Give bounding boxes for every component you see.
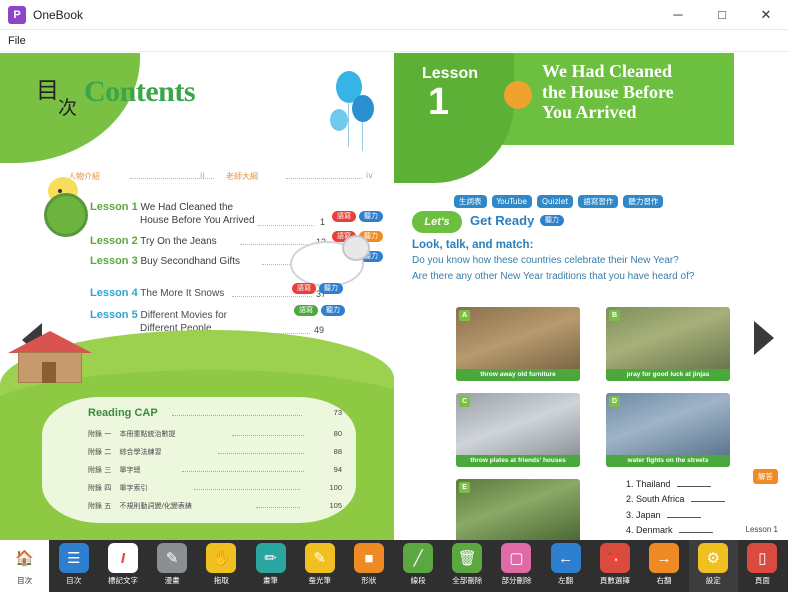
appendix-text-4: 單字索引 xyxy=(119,484,147,492)
toolbar-label-hand: 拖取 xyxy=(214,575,229,586)
photo-a[interactable]: A throw away old furniture xyxy=(456,307,580,381)
lesson-tags-1: 語寫 聽力 xyxy=(332,211,383,222)
toolbar-label-partial-delete: 部分刪除 xyxy=(501,575,531,586)
question-1: Do you know how these countries celebrat… xyxy=(412,255,679,266)
balloon-icon xyxy=(352,95,374,122)
answer-blank-2[interactable] xyxy=(691,501,725,502)
book-page-area: 目 次 Contents 人物介紹 ii 老師大綱 iv Lesson 1 We… xyxy=(0,53,788,540)
lesson-row-2[interactable]: Lesson 2 Try On the Jeans xyxy=(90,235,217,247)
house-icon xyxy=(8,331,92,383)
toolbar-item-line[interactable]: ╱ 線段 xyxy=(394,540,443,592)
appendix-text-2: 綜合學法練習 xyxy=(119,448,161,456)
appendix-row-2[interactable]: 附錄 二 綜合學法練習 xyxy=(88,447,161,457)
lesson-tags-4: 語寫 聽力 xyxy=(292,283,343,294)
lesson-number-3: Lesson 3 xyxy=(90,255,138,267)
appendix-row-1[interactable]: 附錄 一 本冊重點統治數提 xyxy=(88,429,175,439)
appendix-label-4: 附錄 四 xyxy=(88,484,111,492)
photo-badge-e: E xyxy=(459,482,470,493)
toolbar-label-page-right: 右翻 xyxy=(657,575,672,586)
contents-title: Contents xyxy=(84,75,195,109)
shape-icon: ■ xyxy=(354,543,384,573)
country-row-4[interactable]: 4. Denmark xyxy=(626,523,725,538)
appendix-row-3[interactable]: 附錄 三 單字總 xyxy=(88,465,140,475)
appendix-label-3: 附錄 三 xyxy=(88,466,111,474)
toolbar-label-contents: 目次 xyxy=(66,575,81,586)
balloon-icon xyxy=(330,109,348,131)
unit-title-line2: the House Before xyxy=(542,82,780,103)
photo-c[interactable]: C throw plates at friends' houses xyxy=(456,393,580,467)
lesson-number-1: Lesson 1 xyxy=(90,201,138,213)
country-number-2: 2. xyxy=(626,494,634,504)
front-matter-row: 人物介紹 ii 老師大綱 iv xyxy=(24,171,372,185)
toolbar-item-delete-all[interactable]: 🗑 全部刪除 xyxy=(443,540,492,592)
photo-caption-a: throw away old furniture xyxy=(456,369,580,381)
appendix-page-2: 88 xyxy=(334,447,342,456)
title-bar: P OneBook ─ □ ✕ xyxy=(0,0,788,30)
reading-cap-title: Reading CAP xyxy=(88,407,158,419)
pen-icon: ✏ xyxy=(256,543,286,573)
appendix-row-5[interactable]: 附錄 五 不規則動詞變/化變表錶 xyxy=(88,501,192,511)
toolbar-item-contents[interactable]: ☰ 目次 xyxy=(49,540,98,592)
menu-bar: File xyxy=(0,30,788,52)
toolbar-item-partial-delete[interactable]: ▢ 部分刪除 xyxy=(492,540,541,592)
balloon-string xyxy=(362,121,363,151)
country-match-list: 1. Thailand 2. South Africa 3. Japan 4. … xyxy=(626,477,725,540)
dots xyxy=(256,507,300,508)
lesson-row-3[interactable]: Lesson 3 Buy Secondhand Gifts xyxy=(90,255,240,267)
dots xyxy=(218,453,304,454)
chip-quizlet[interactable]: Quizlet xyxy=(537,195,573,208)
lesson-title-2: Try On the Jeans xyxy=(140,236,216,247)
dots xyxy=(182,471,304,472)
country-name-3: Japan xyxy=(636,510,661,520)
question-2: Are there any other New Year traditions … xyxy=(412,271,694,282)
toolbar-label-highlighter: 蚕光筆 xyxy=(308,575,331,586)
close-button[interactable]: ✕ xyxy=(744,0,788,30)
toolbar-label-pen: 畫筆 xyxy=(263,575,278,586)
toolbar-label-comic: 漫畫 xyxy=(165,575,180,586)
toolbar-item-page[interactable]: ▯ 頁面 xyxy=(738,540,787,592)
photo-caption-d: water fights on the streets xyxy=(606,455,730,467)
appendix-label-2: 附錄 二 xyxy=(88,448,111,456)
lesson-page-1: 1 xyxy=(320,217,325,227)
lesson-title-5: Different Movies for xyxy=(140,310,227,321)
appendix-row-4[interactable]: 附錄 四 單字索引 xyxy=(88,483,147,493)
lets-badge: Let's xyxy=(412,211,462,233)
dots xyxy=(232,296,312,297)
balloon-string xyxy=(348,101,349,147)
lesson-tags-5: 語寫 聽力 xyxy=(294,305,345,316)
lesson-row-4[interactable]: Lesson 4 The More It Snows xyxy=(90,287,224,299)
country-number-1: 1. xyxy=(626,479,634,489)
minimize-button[interactable]: ─ xyxy=(656,0,700,30)
lesson-number-4: Lesson 4 xyxy=(90,287,138,299)
hand-icon: ✋ xyxy=(206,543,236,573)
tag-writing[interactable]: 語寫 xyxy=(294,305,318,316)
photo-badge-a: A xyxy=(459,310,470,321)
photo-caption-c: throw plates at friends' houses xyxy=(456,455,580,467)
appendix-page-4: 100 xyxy=(329,483,342,492)
front-matter-page-1: iv xyxy=(366,171,373,180)
yarn-ball-icon xyxy=(44,193,88,237)
toolbar-item-shape[interactable]: ■ 形狀 xyxy=(344,540,393,592)
photo-caption-b: pray for good luck at jinjas xyxy=(606,369,730,381)
lesson-title-1-line2: House Before You Arrived xyxy=(140,215,255,226)
tag-writing[interactable]: 語寫 xyxy=(292,283,316,294)
appendix-text-1: 本冊重點統治數提 xyxy=(119,430,175,438)
country-name-2: South Africa xyxy=(636,494,685,504)
toolbar-item-pen[interactable]: ✏ 畫筆 xyxy=(246,540,295,592)
toolbar-item-page-left[interactable]: ← 左翻 xyxy=(541,540,590,592)
photo-badge-b: B xyxy=(609,310,620,321)
contents-cjk-top: 目 xyxy=(36,71,59,105)
appendix-text-5: 不規則動詞變/化變表錶 xyxy=(119,502,191,510)
app-icon: P xyxy=(8,6,26,24)
gear-icon: ⚙ xyxy=(698,543,728,573)
photo-b[interactable]: B pray for good luck at jinjas xyxy=(606,307,730,381)
country-row-2[interactable]: 2. South Africa xyxy=(626,492,725,507)
page-icon: ▯ xyxy=(747,543,777,573)
appendix-text-3: 單字總 xyxy=(119,466,140,474)
contents-icon: ☰ xyxy=(59,543,89,573)
contents-cjk-bottom: 次 xyxy=(58,93,77,120)
appendix-page-3: 94 xyxy=(334,465,342,474)
left-page: 目 次 Contents 人物介紹 ii 老師大綱 iv Lesson 1 We… xyxy=(0,53,394,540)
toolbar-label-shape: 形狀 xyxy=(361,575,376,586)
app-title: OneBook xyxy=(33,8,83,22)
next-page-arrow-icon[interactable] xyxy=(754,321,774,355)
unit-title-line3: You Arrived xyxy=(542,102,780,123)
page-footer-label: Lesson 1 xyxy=(746,525,778,534)
home-icon: 🏠 xyxy=(10,543,40,573)
tag-writing[interactable]: 語寫 xyxy=(332,211,356,222)
dots xyxy=(258,225,314,226)
window-controls: ─ □ ✕ xyxy=(656,0,788,30)
answer-blank-3[interactable] xyxy=(667,517,701,518)
lesson-number-5: Lesson 5 xyxy=(90,309,138,321)
appendix-label-1: 附錄 一 xyxy=(88,430,111,438)
toolbar-label-home: 目次 xyxy=(17,575,32,586)
toolbar-label-delete-all: 全部刪除 xyxy=(452,575,482,586)
lesson-title-1: We Had Cleaned the xyxy=(140,202,233,213)
highlighter-icon: ✎ xyxy=(305,543,335,573)
photo-e[interactable]: E eat 12 grapes during the countdown xyxy=(456,479,580,540)
page-select-icon: 🔖 xyxy=(600,543,630,573)
section-title: Get Ready xyxy=(470,213,534,228)
menu-item-file[interactable]: File xyxy=(0,33,34,49)
left-arrow-icon: ← xyxy=(551,543,581,573)
country-name-1: Thailand xyxy=(636,479,671,489)
answer-blank-1[interactable] xyxy=(677,486,711,487)
chip-writing-workbook[interactable]: 語寫習作 xyxy=(578,195,618,208)
lesson-row-5[interactable]: Lesson 5 Different Movies for xyxy=(90,309,227,321)
appendix-page-1: 80 xyxy=(334,429,342,438)
chip-youtube[interactable]: YouTube xyxy=(492,195,533,208)
dots xyxy=(172,415,302,416)
comic-icon: ✎ xyxy=(157,543,187,573)
maximize-button[interactable]: □ xyxy=(700,0,744,30)
toolbar-item-text-marker[interactable]: I 標記文字 xyxy=(98,540,147,592)
answer-button[interactable]: 解答 xyxy=(753,469,778,484)
tag-listening[interactable]: 聽力 xyxy=(321,305,345,316)
unit-title: We Had Cleaned the House Before You Arri… xyxy=(542,61,780,123)
eraser-icon: ▢ xyxy=(501,543,531,573)
section-listening-tag[interactable]: 聽力 xyxy=(540,215,564,226)
country-number-3: 3. xyxy=(626,510,634,520)
front-matter-page-0: ii xyxy=(200,171,204,180)
tag-listening[interactable]: 聽力 xyxy=(319,283,343,294)
country-row-3[interactable]: 3. Japan xyxy=(626,508,725,523)
trash-icon: 🗑 xyxy=(452,543,482,573)
toolbar-label-page-select: 頁數選擇 xyxy=(600,575,630,586)
lesson-dot-icon xyxy=(504,81,532,109)
toolbar-label-line: 線段 xyxy=(411,575,426,586)
reading-cap-page: 73 xyxy=(334,408,342,417)
toolbar-label-text-marker: 標記文字 xyxy=(108,575,138,586)
resource-chips: 生詞表 YouTube Quizlet 語寫習作 聽力習作 xyxy=(454,195,663,208)
lesson-row-1[interactable]: Lesson 1 We Had Cleaned the xyxy=(90,201,233,213)
toolbar-item-hand[interactable]: ✋ 拖取 xyxy=(197,540,246,592)
reading-cap-box: Reading CAP 73 附錄 一 本冊重點統治數提 80 附錄 二 綜合學… xyxy=(40,395,358,525)
instruction-text: Look, talk, and match: xyxy=(412,239,533,251)
unit-title-line1: We Had Cleaned xyxy=(542,61,780,82)
dots xyxy=(232,435,304,436)
toolbar-item-home[interactable]: 🏠 目次 xyxy=(0,540,49,592)
toolbar-label-page-left: 左翻 xyxy=(558,575,573,586)
lesson-title-3: Buy Secondhand Gifts xyxy=(140,256,240,267)
dots xyxy=(286,178,362,179)
tag-listening[interactable]: 聽力 xyxy=(359,211,383,222)
front-matter-label-1[interactable]: 老師大綱 xyxy=(226,171,258,182)
toolbar-item-comic[interactable]: ✎ 漫畫 xyxy=(148,540,197,592)
answer-blank-4[interactable] xyxy=(679,532,713,533)
photo-badge-c: C xyxy=(459,396,470,407)
lesson-number-2: Lesson 2 xyxy=(90,235,138,247)
country-number-4: 4. xyxy=(626,525,634,535)
appendix-page-5: 105 xyxy=(329,501,342,510)
dots xyxy=(194,489,300,490)
toolbar-item-page-right[interactable]: → 右翻 xyxy=(639,540,688,592)
photo-badge-d: D xyxy=(609,396,620,407)
photo-d[interactable]: D water fights on the streets xyxy=(606,393,730,467)
country-row-1[interactable]: 1. Thailand xyxy=(626,477,725,492)
bottom-toolbar: 🏠 目次 ☰ 目次 I 標記文字 ✎ 漫畫 ✋ 拖取 ✏ 畫筆 ✎ 蚕光筆 ■ … xyxy=(0,540,788,592)
toolbar-label-page: 頁面 xyxy=(755,575,770,586)
chip-listening-workbook[interactable]: 聽力習作 xyxy=(623,195,663,208)
right-arrow-icon: → xyxy=(649,543,679,573)
toolbar-item-page-select[interactable]: 🔖 頁數選擇 xyxy=(590,540,639,592)
lesson-page-5: 49 xyxy=(314,325,324,335)
appendix-label-5: 附錄 五 xyxy=(88,502,111,510)
lesson-number: 1 xyxy=(428,83,449,121)
line-icon: ╱ xyxy=(403,543,433,573)
toolbar-label-settings: 設定 xyxy=(706,575,721,586)
lesson-title-4: The More It Snows xyxy=(140,288,224,299)
toolbar-item-settings[interactable]: ⚙ 設定 xyxy=(689,540,738,592)
chip-vocabulary[interactable]: 生詞表 xyxy=(454,195,487,208)
right-page: Lesson 1 We Had Cleaned the House Before… xyxy=(394,53,788,540)
toolbar-item-highlighter[interactable]: ✎ 蚕光筆 xyxy=(295,540,344,592)
text-marker-icon: I xyxy=(108,543,138,573)
country-name-4: Denmark xyxy=(636,525,673,535)
